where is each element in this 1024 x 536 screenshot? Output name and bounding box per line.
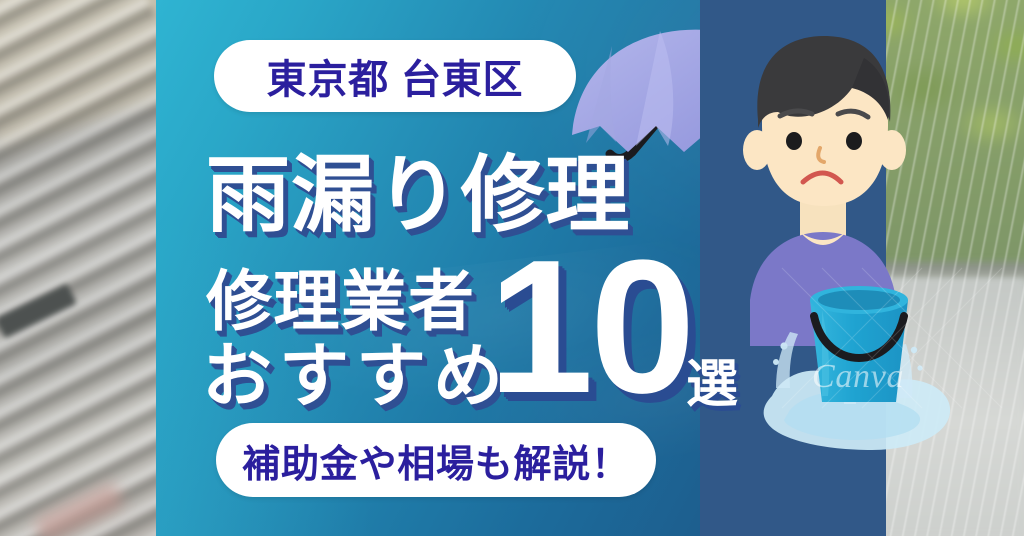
region-pill: 東京都 台東区 <box>214 40 576 112</box>
count-unit: 選 <box>686 342 739 417</box>
rainy-window-photo <box>864 0 1024 536</box>
footer-pill: 補助金や相場も解説！ <box>216 423 656 497</box>
banner-image: Canva 東京都 台東区 雨漏り修理 修理業者 おすすめ 10 選 補助金や相… <box>0 0 1024 536</box>
region-pill-label: 東京都 台東区 <box>267 47 524 105</box>
wall-blur <box>864 279 1024 536</box>
foliage-blur <box>864 0 1024 268</box>
window-ledge <box>864 263 1024 279</box>
footer-pill-label: 補助金や相場も解説！ <box>242 433 630 488</box>
count-number: 10 <box>488 232 692 422</box>
roof-tile-stripes <box>0 0 160 536</box>
subtitle-line-2: おすすめ <box>202 320 510 421</box>
roof-tiles-photo <box>0 0 160 536</box>
